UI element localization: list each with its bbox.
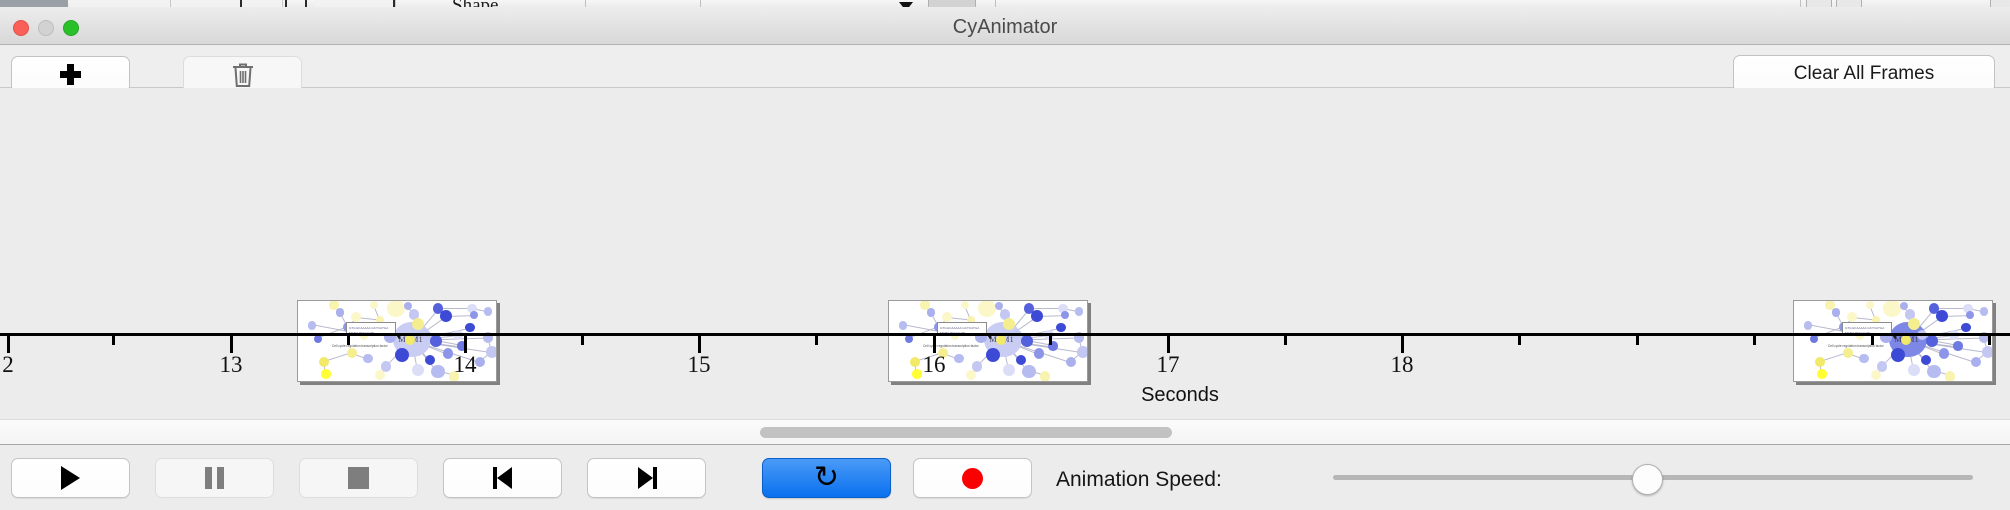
timeline-tick [1284, 336, 1287, 345]
frame-network-graph: MCM1GTGGCAAAAA GCTCATGAMCM1 REGULONCell … [1794, 301, 1992, 381]
timeline-tick [815, 336, 818, 345]
graph-node [1866, 301, 1874, 309]
stop-icon [348, 467, 369, 489]
timeline-tick [1871, 336, 1874, 345]
frame-thumbnail-2[interactable]: MCM1GTGGCAAAAA GCTCATGAMCM1 REGULONCell … [888, 300, 1088, 382]
skip-to-start-button[interactable] [443, 458, 562, 498]
graph-node [1056, 323, 1065, 332]
graph-node [1891, 348, 1905, 362]
skip-backward-icon [492, 467, 514, 489]
timeline-axis-title: Seconds [1141, 384, 1219, 407]
graph-node [1817, 369, 1826, 378]
graph-node [1061, 311, 1069, 319]
window-titlebar: CyAnimator [0, 7, 2010, 45]
stop-button[interactable] [299, 458, 418, 498]
graph-node [347, 348, 357, 358]
graph-node [375, 370, 385, 380]
play-button[interactable] [11, 458, 130, 498]
skip-forward-icon [636, 467, 658, 489]
graph-node [1077, 346, 1087, 358]
graph-node [465, 323, 474, 332]
timeline-axis-line [0, 333, 2010, 336]
graph-node [431, 365, 444, 378]
graph-node [1966, 311, 1974, 319]
graph-callout-text: GTGGCAAAAA GCTCATGA [940, 326, 979, 330]
graph-note-text: Cell cycle regulation transcription fact… [332, 344, 388, 348]
graph-node [321, 369, 330, 378]
graph-node [1825, 301, 1834, 310]
graph-node [1971, 357, 1981, 367]
timeline-tick [698, 336, 701, 353]
graph-node [440, 310, 452, 322]
graph-node [1980, 307, 1988, 315]
timeline-tick [1636, 336, 1639, 345]
graph-node [954, 354, 963, 363]
graph-callout-text: GTGGCAAAAA GCTCATGA [349, 326, 388, 330]
graph-node [484, 307, 492, 315]
window-title: CyAnimator [0, 16, 2010, 39]
graph-node [1961, 323, 1970, 332]
pause-button[interactable] [155, 458, 274, 498]
graph-node [986, 348, 1000, 362]
graph-node [978, 301, 996, 317]
plus-icon [60, 64, 81, 85]
graph-node [1022, 365, 1035, 378]
frame-toolbar: Clear All Frames [0, 46, 2010, 88]
graph-node [899, 321, 907, 329]
graph-node [1031, 310, 1043, 322]
graph-node [961, 301, 969, 309]
graph-node [1843, 348, 1853, 358]
graph-node [1804, 321, 1812, 329]
timeline-tick-label: 15 [688, 352, 711, 378]
graph-node [1883, 301, 1901, 317]
graph-node [351, 312, 361, 322]
graph-node [1066, 357, 1076, 367]
graph-node [927, 308, 935, 316]
play-icon [61, 466, 80, 490]
skip-to-end-button[interactable] [587, 458, 706, 498]
graph-node [942, 312, 952, 322]
graph-node [1859, 354, 1868, 363]
graph-callout-text: GTGGCAAAAA GCTCATGA [1845, 326, 1884, 330]
timeline-panel[interactable]: MCM1GTGGCAAAAA GCTCATGAMCM1 REGULONCell … [0, 88, 2010, 425]
frame-thumbnail-3[interactable]: MCM1GTGGCAAAAA GCTCATGAMCM1 REGULONCell … [1793, 300, 1993, 382]
graph-node [1832, 308, 1840, 316]
trash-icon [231, 61, 255, 89]
timeline-tick [1167, 336, 1170, 353]
graph-node [1936, 310, 1948, 322]
graph-node [1815, 357, 1825, 367]
graph-node [430, 335, 442, 347]
graph-node [387, 301, 405, 317]
graph-node [363, 354, 372, 363]
graph-node [370, 301, 378, 309]
graph-node [1921, 355, 1932, 366]
timeline-tick [230, 336, 233, 353]
timeline-tick [933, 336, 936, 353]
graph-node [1953, 341, 1962, 350]
graph-node [1021, 335, 1033, 347]
timeline-tick-label: 14 [454, 352, 477, 378]
graph-node [308, 321, 316, 329]
timeline-tick [7, 336, 10, 353]
graph-node [1016, 355, 1027, 366]
timeline-tick-label: 17 [1157, 352, 1180, 378]
graph-node [1003, 364, 1016, 377]
clear-all-frames-label: Clear All Frames [1794, 63, 1934, 85]
graph-node [443, 348, 453, 358]
graph-node [1945, 371, 1956, 381]
graph-node [1034, 348, 1044, 358]
graph-node [1908, 364, 1921, 377]
scrollbar-thumb[interactable] [760, 427, 1172, 438]
pause-icon [205, 467, 224, 489]
graph-node [966, 370, 976, 380]
timeline-tick [347, 336, 350, 345]
graph-node [1926, 335, 1938, 347]
timeline-tick-label: 16 [923, 352, 946, 378]
timeline-tick-label: 2 [2, 352, 14, 378]
cyanimator-window: Shape CyAnimator [0, 0, 2010, 510]
graph-node [395, 348, 409, 362]
graph-note-text: Cell cycle regulation transcription fact… [923, 344, 979, 348]
record-button[interactable] [913, 458, 1032, 498]
graph-node [486, 346, 496, 358]
graph-node [920, 301, 929, 310]
graph-node [912, 369, 921, 378]
graph-node [1847, 312, 1857, 322]
timeline-tick-label: 18 [1391, 352, 1414, 378]
graph-node [1927, 365, 1940, 378]
graph-node [1871, 370, 1881, 380]
timeline-tick-label: 13 [220, 352, 243, 378]
graph-node [1982, 346, 1992, 358]
timeline-tick [112, 336, 115, 345]
animation-speed-slider-handle[interactable] [1632, 464, 1663, 495]
loop-icon: ↻ [814, 463, 839, 493]
timeline-tick [464, 336, 467, 353]
timeline-tick [1988, 336, 1991, 345]
timeline-horizontal-scrollbar[interactable] [0, 419, 2010, 445]
graph-node [1040, 371, 1051, 381]
graph-node [1901, 335, 1911, 345]
loop-button[interactable]: ↻ [762, 458, 891, 498]
timeline-tick [1518, 336, 1521, 345]
graph-node [319, 357, 329, 367]
graph-node [1075, 307, 1083, 315]
graph-node [405, 335, 415, 345]
graph-node [1939, 348, 1949, 358]
graph-node [425, 355, 436, 366]
animation-speed-label: Animation Speed: [1056, 468, 1222, 492]
graph-node [996, 335, 1006, 345]
frame-network-graph: MCM1GTGGCAAAAA GCTCATGAMCM1 REGULONCell … [889, 301, 1087, 381]
graph-node [336, 308, 344, 316]
timeline-tick [1049, 336, 1052, 345]
record-icon [962, 468, 983, 489]
timeline-tick [1401, 336, 1404, 353]
graph-note-text: Cell cycle regulation transcription fact… [1828, 344, 1884, 348]
timeline-tick [1753, 336, 1756, 345]
graph-node [470, 311, 478, 319]
graph-node [329, 301, 338, 310]
graph-node [412, 364, 425, 377]
playback-toolbar: ↻ Animation Speed: [0, 446, 2010, 510]
timeline-tick [581, 336, 584, 345]
graph-node [910, 357, 920, 367]
